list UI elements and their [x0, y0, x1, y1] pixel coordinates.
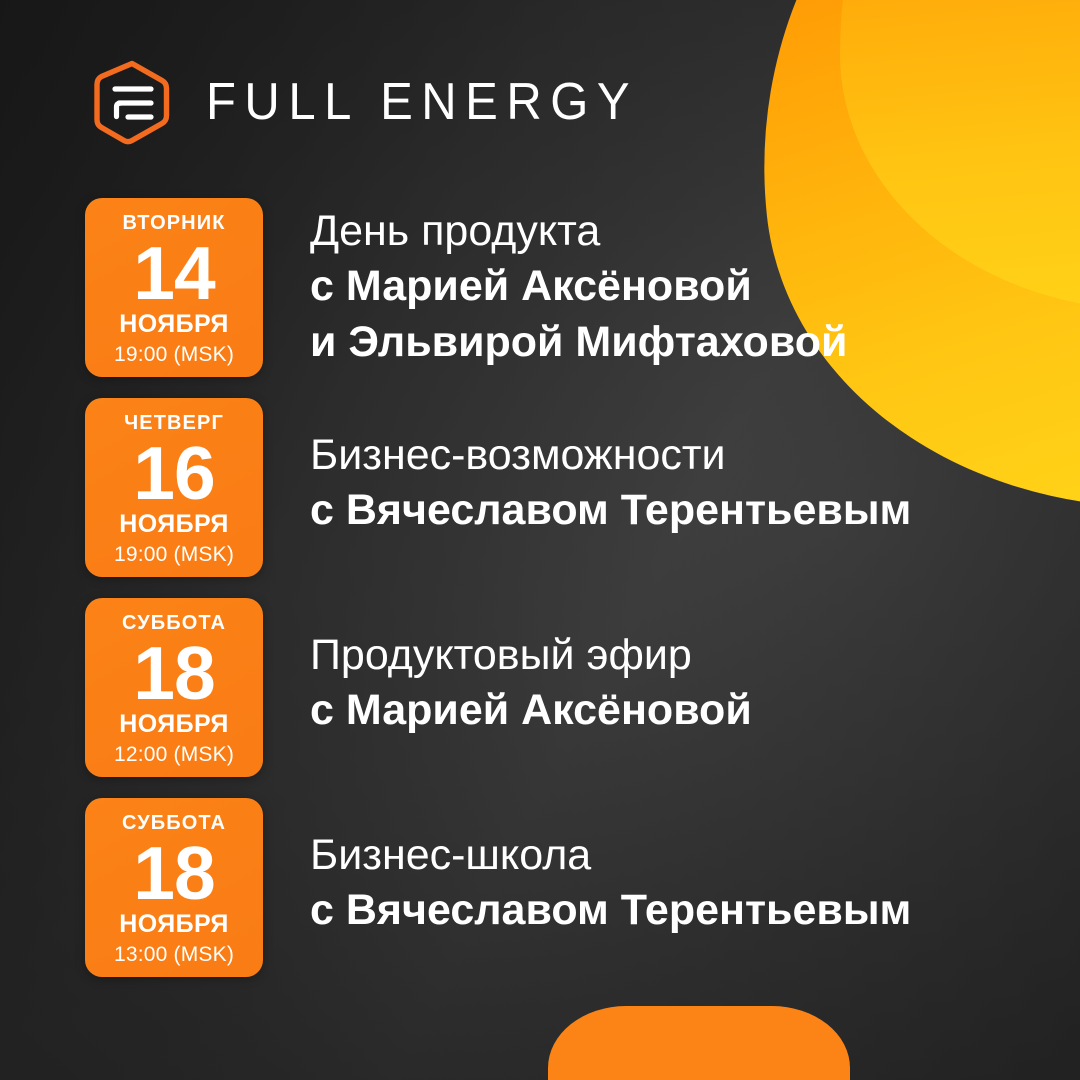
- event-subtitle-line: с Марией Аксёновой: [310, 259, 847, 315]
- event-text-block: Продуктовый эфир с Марией Аксёновой: [310, 598, 752, 739]
- date-card-time: 19:00 (MSK): [114, 344, 234, 365]
- date-card-month: НОЯБРЯ: [119, 712, 229, 737]
- event-subtitle-line: с Вячеславом Терентьевым: [310, 883, 911, 939]
- date-card-weekday: ВТОРНИК: [122, 213, 225, 233]
- event-title: День продукта: [310, 204, 847, 259]
- decorative-blob-bottom: [548, 1006, 850, 1080]
- schedule-row[interactable]: ВТОРНИК 14 НОЯБРЯ 19:00 (MSK) День проду…: [85, 198, 1045, 377]
- date-card-time: 19:00 (MSK): [114, 544, 234, 565]
- date-card[interactable]: ЧЕТВЕРГ 16 НОЯБРЯ 19:00 (MSK): [85, 398, 263, 577]
- schedule-row[interactable]: ЧЕТВЕРГ 16 НОЯБРЯ 19:00 (MSK) Бизнес-воз…: [85, 398, 1045, 577]
- date-card-time: 12:00 (MSK): [114, 744, 234, 765]
- brand-name: FULL ENERGY: [206, 72, 638, 131]
- event-title: Продуктовый эфир: [310, 628, 752, 683]
- date-card-month: НОЯБРЯ: [119, 512, 229, 537]
- event-subtitle-line: с Вячеславом Терентьевым: [310, 483, 911, 539]
- date-card[interactable]: ВТОРНИК 14 НОЯБРЯ 19:00 (MSK): [85, 198, 263, 377]
- hexagon-f-logo-icon: [88, 58, 176, 146]
- event-text-block: Бизнес-возможности с Вячеславом Терентье…: [310, 398, 911, 539]
- date-card-day: 18: [133, 837, 214, 910]
- date-card-weekday: СУББОТА: [122, 813, 226, 833]
- date-card-time: 13:00 (MSK): [114, 944, 234, 965]
- date-card-day: 14: [133, 237, 214, 310]
- event-title: Бизнес-школа: [310, 828, 911, 883]
- event-subtitle-line: и Эльвирой Мифтаховой: [310, 315, 847, 371]
- date-card-day: 16: [133, 437, 214, 510]
- schedule-poster: FULL ENERGY ВТОРНИК 14 НОЯБРЯ 19:00 (MSK…: [0, 0, 1080, 1080]
- brand-header: FULL ENERGY: [88, 58, 638, 146]
- date-card-month: НОЯБРЯ: [119, 912, 229, 937]
- date-card[interactable]: СУББОТА 18 НОЯБРЯ 13:00 (MSK): [85, 798, 263, 977]
- date-card-day: 18: [133, 637, 214, 710]
- date-card[interactable]: СУББОТА 18 НОЯБРЯ 12:00 (MSK): [85, 598, 263, 777]
- schedule-row[interactable]: СУББОТА 18 НОЯБРЯ 13:00 (MSK) Бизнес-шко…: [85, 798, 1045, 977]
- event-subtitle-line: с Марией Аксёновой: [310, 683, 752, 739]
- date-card-month: НОЯБРЯ: [119, 312, 229, 337]
- date-card-weekday: СУББОТА: [122, 613, 226, 633]
- event-text-block: Бизнес-школа с Вячеславом Терентьевым: [310, 798, 911, 939]
- schedule-row[interactable]: СУББОТА 18 НОЯБРЯ 12:00 (MSK) Продуктовы…: [85, 598, 1045, 777]
- event-title: Бизнес-возможности: [310, 428, 911, 483]
- schedule-list: ВТОРНИК 14 НОЯБРЯ 19:00 (MSK) День проду…: [85, 198, 1045, 998]
- event-text-block: День продукта с Марией Аксёновой и Эльви…: [310, 198, 847, 371]
- date-card-weekday: ЧЕТВЕРГ: [124, 413, 224, 433]
